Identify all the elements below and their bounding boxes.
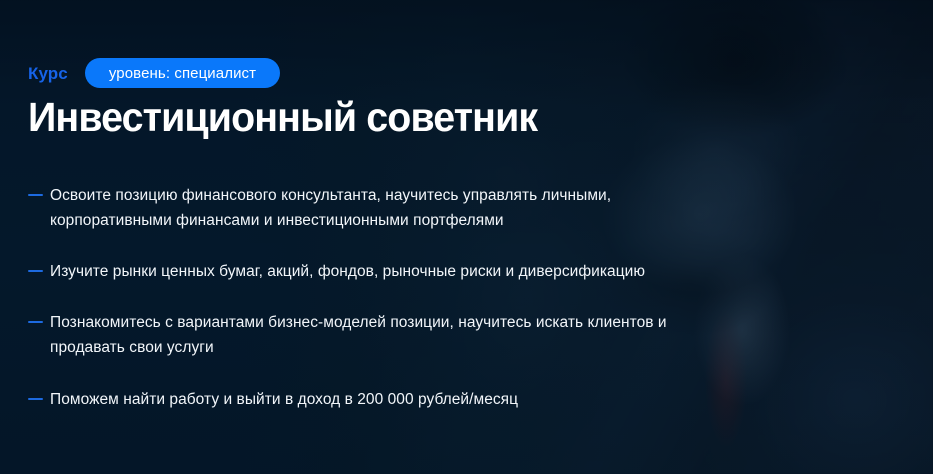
hero-content: Курс уровень: специалист Инвестиционный … [28,0,688,474]
list-item: Освоите позицию финансового консультанта… [28,183,668,233]
eyebrow-row: Курс уровень: специалист [28,58,280,88]
em-dash-icon [28,321,43,323]
level-badge[interactable]: уровень: специалист [85,58,280,88]
list-item-text: Познакомитесь с вариантами бизнес-моделе… [50,314,667,356]
list-item-text: Освоите позицию финансового консультанта… [50,187,611,229]
em-dash-icon [28,398,43,400]
course-kicker-label: Курс [28,65,68,82]
list-item: Познакомитесь с вариантами бизнес-моделе… [28,310,668,360]
course-hero-banner: Курс уровень: специалист Инвестиционный … [0,0,933,474]
em-dash-icon [28,270,43,272]
list-item: Поможем найти работу и выйти в доход в 2… [28,387,668,412]
list-item-text: Поможем найти работу и выйти в доход в 2… [50,391,518,408]
list-item: Изучите рынки ценных бумаг, акций, фондо… [28,259,668,284]
list-item-text: Изучите рынки ценных бумаг, акций, фондо… [50,263,645,280]
course-benefits-list: Освоите позицию финансового консультанта… [28,183,668,412]
page-title: Инвестиционный советник [28,96,537,139]
em-dash-icon [28,194,43,196]
